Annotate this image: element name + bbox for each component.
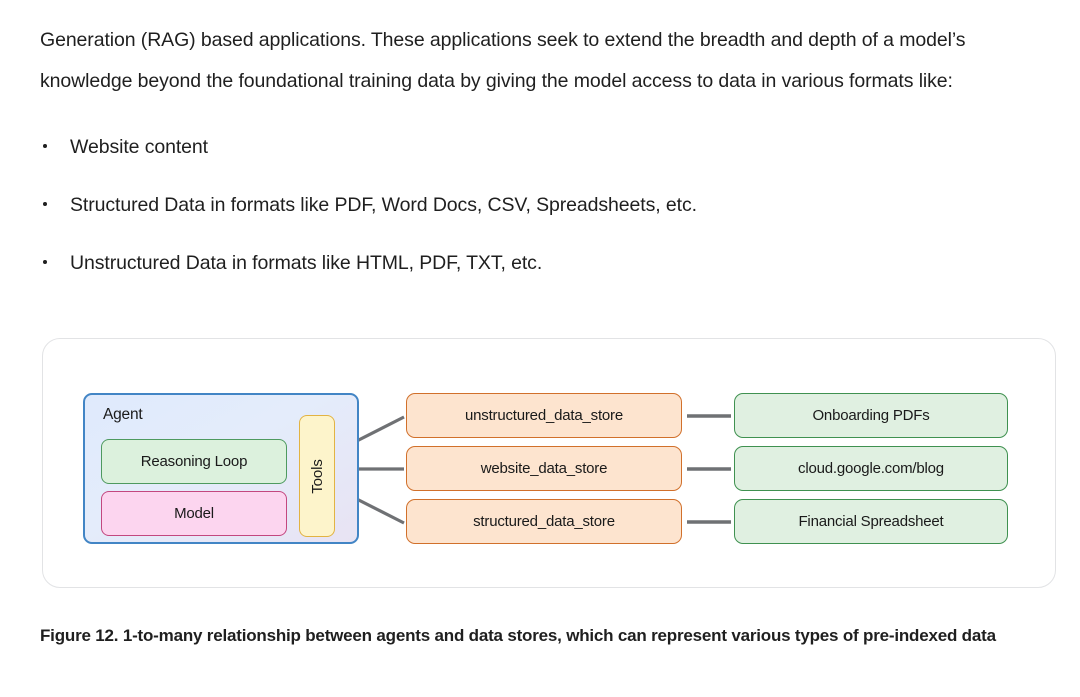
list-item-label: Unstructured Data in formats like HTML, … <box>70 252 542 274</box>
bullet-dot-icon <box>43 202 47 206</box>
format-list: Website content Structured Data in forma… <box>40 134 1025 276</box>
list-item: Structured Data in formats like PDF, Wor… <box>40 192 1025 218</box>
model-box[interactable]: Model <box>101 491 287 536</box>
source-label: cloud.google.com/blog <box>798 460 944 477</box>
source-box-onboarding-pdfs[interactable]: Onboarding PDFs <box>734 393 1008 438</box>
data-store-label: unstructured_data_store <box>465 407 623 424</box>
agent-label: Agent <box>103 406 143 424</box>
data-store-label: structured_data_store <box>473 513 615 530</box>
list-item-label: Structured Data in formats like PDF, Wor… <box>70 194 697 216</box>
source-box-cloud-blog[interactable]: cloud.google.com/blog <box>734 446 1008 491</box>
source-label: Onboarding PDFs <box>812 407 929 424</box>
bullet-dot-icon <box>43 260 47 264</box>
source-box-financial-spreadsheet[interactable]: Financial Spreadsheet <box>734 499 1008 544</box>
list-item-label: Website content <box>70 136 208 158</box>
agent-data-store-diagram: Agent Reasoning Loop Model Tools unstruc… <box>43 339 1057 589</box>
list-item: Unstructured Data in formats like HTML, … <box>40 250 1025 276</box>
reasoning-loop-box[interactable]: Reasoning Loop <box>101 439 287 484</box>
data-store-box-structured[interactable]: structured_data_store <box>406 499 682 544</box>
tools-box[interactable]: Tools <box>299 415 335 537</box>
bullet-dot-icon <box>43 144 47 148</box>
model-label: Model <box>174 505 214 522</box>
data-store-box-website[interactable]: website_data_store <box>406 446 682 491</box>
list-item: Website content <box>40 134 1025 160</box>
tools-label: Tools <box>309 459 326 494</box>
figure-caption: Figure 12. 1-to-many relationship betwee… <box>40 622 1025 649</box>
data-store-box-unstructured[interactable]: unstructured_data_store <box>406 393 682 438</box>
data-store-label: website_data_store <box>481 460 608 477</box>
reasoning-loop-label: Reasoning Loop <box>141 453 247 470</box>
article-body: Generation (RAG) based applications. The… <box>40 0 1025 276</box>
figure-card: Agent Reasoning Loop Model Tools unstruc… <box>42 338 1056 588</box>
source-label: Financial Spreadsheet <box>798 513 943 530</box>
intro-paragraph: Generation (RAG) based applications. The… <box>40 0 1025 102</box>
